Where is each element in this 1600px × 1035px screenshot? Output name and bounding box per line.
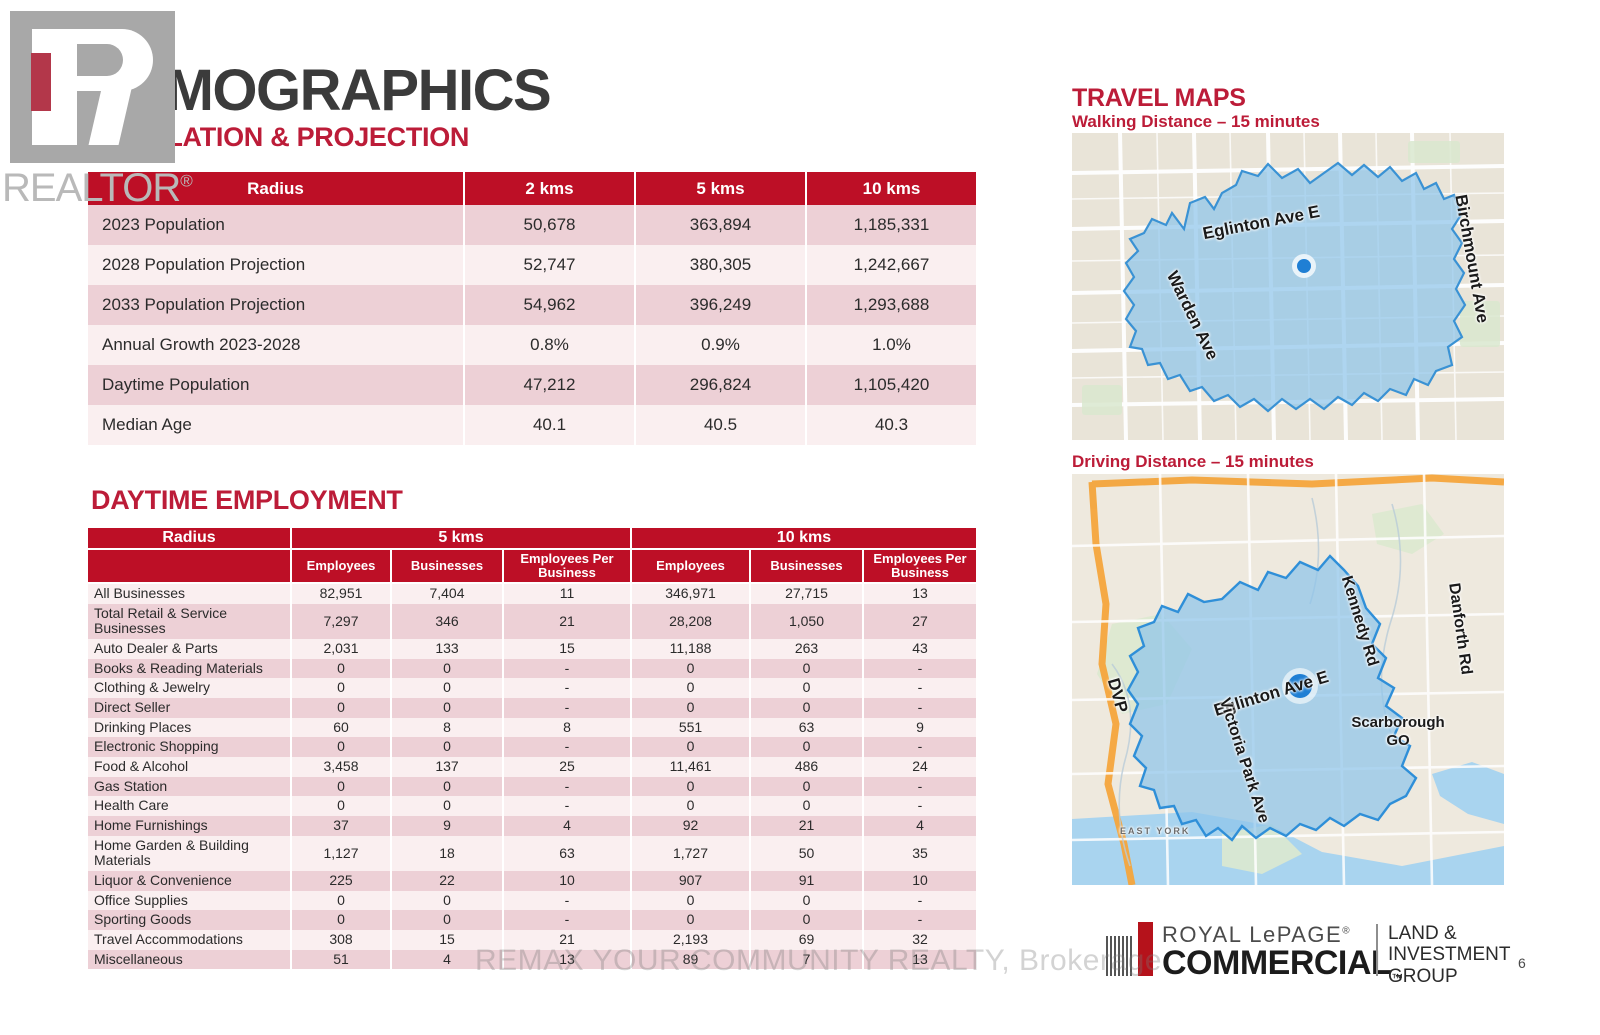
table-row: 2023 Population 50,678 363,894 1,185,331: [88, 205, 976, 245]
logo-divider: [1376, 924, 1378, 976]
logo-commercial-text: COMMERCIAL™: [1162, 944, 1403, 985]
cell-businesses-5: 9: [391, 816, 503, 836]
cell-10kms: 1,293,688: [806, 285, 976, 325]
cell-5kms: 296,824: [635, 365, 806, 405]
table-row: Gas Station00-00-: [88, 777, 976, 797]
col-subheader-employees-5: Employees: [291, 549, 391, 583]
row-label: Office Supplies: [88, 891, 291, 911]
row-label: Median Age: [88, 405, 464, 445]
slide-page: DEMOGRAPHICS POPULATION & PROJECTION Rad…: [0, 0, 1600, 1035]
logo-group-line-1: LAND &: [1388, 923, 1510, 944]
cell-per-business-10: 35: [863, 836, 976, 871]
table-row: Annual Growth 2023-2028 0.8% 0.9% 1.0%: [88, 325, 976, 365]
cell-10kms: 1.0%: [806, 325, 976, 365]
cell-businesses-5: 0: [391, 891, 503, 911]
cell-employees-5: 0: [291, 910, 391, 930]
cell-2kms: 54,962: [464, 285, 635, 325]
cell-2kms: 0.8%: [464, 325, 635, 365]
cell-employees-10: 11,461: [631, 757, 750, 777]
cell-10kms: 40.3: [806, 405, 976, 445]
cell-per-business-10: 24: [863, 757, 976, 777]
page-number: 6: [1518, 955, 1526, 971]
cell-businesses-5: 7,404: [391, 583, 503, 604]
table-row: Office Supplies00-00-: [88, 891, 976, 911]
cell-2kms: 40.1: [464, 405, 635, 445]
cell-employees-10: 0: [631, 910, 750, 930]
cell-2kms: 47,212: [464, 365, 635, 405]
col-header-radius: Radius: [88, 528, 291, 549]
cell-per-business-10: -: [863, 796, 976, 816]
cell-per-business-5: -: [503, 659, 631, 679]
label-walking-distance: Walking Distance – 15 minutes: [1072, 112, 1320, 132]
cell-per-business-5: -: [503, 777, 631, 797]
row-label: Miscellaneous: [88, 950, 291, 970]
row-label: Books & Reading Materials: [88, 659, 291, 679]
cell-businesses-10: 63: [750, 718, 863, 738]
row-label: Home Garden & Building Materials: [88, 836, 291, 871]
cell-per-business-10: 13: [863, 950, 976, 970]
row-label: Sporting Goods: [88, 910, 291, 930]
cell-per-business-10: 27: [863, 604, 976, 639]
cell-10kms: 1,242,667: [806, 245, 976, 285]
col-header-5kms: 5 kms: [635, 172, 806, 205]
cell-businesses-10: 69: [750, 930, 863, 950]
col-header-2kms: 2 kms: [464, 172, 635, 205]
cell-businesses-10: 91: [750, 871, 863, 891]
cell-businesses-5: 0: [391, 910, 503, 930]
royal-lepage-commercial-logo: ROYAL LePAGE® COMMERCIAL™ LAND & INVESTM…: [1106, 918, 1506, 980]
row-label: Home Furnishings: [88, 816, 291, 836]
cell-per-business-10: -: [863, 659, 976, 679]
registered-mark-icon: ®: [1342, 926, 1351, 937]
section-title-travel-maps: TRAVEL MAPS: [1072, 84, 1246, 113]
row-label: Clothing & Jewelry: [88, 678, 291, 698]
cell-businesses-5: 0: [391, 796, 503, 816]
cell-2kms: 50,678: [464, 205, 635, 245]
cell-employees-10: 89: [631, 950, 750, 970]
cell-per-business-10: -: [863, 737, 976, 757]
table-row: Liquor & Convenience22522109079110: [88, 871, 976, 891]
cell-businesses-5: 8: [391, 718, 503, 738]
table-row: Electronic Shopping00-00-: [88, 737, 976, 757]
row-label: 2033 Population Projection: [88, 285, 464, 325]
cell-5kms: 363,894: [635, 205, 806, 245]
col-subheader-businesses-10: Businesses: [750, 549, 863, 583]
cell-employees-5: 7,297: [291, 604, 391, 639]
cell-per-business-10: 13: [863, 583, 976, 604]
table-row: Health Care00-00-: [88, 796, 976, 816]
cell-per-business-5: 11: [503, 583, 631, 604]
cell-employees-5: 308: [291, 930, 391, 950]
cell-businesses-5: 346: [391, 604, 503, 639]
cell-employees-5: 2,031: [291, 639, 391, 659]
cell-per-business-5: -: [503, 796, 631, 816]
cell-per-business-5: 10: [503, 871, 631, 891]
cell-employees-10: 0: [631, 678, 750, 698]
cell-employees-10: 0: [631, 891, 750, 911]
driving-distance-map[interactable]: Kennedy Rd Danforth Rd Eglinton Ave E Vi…: [1072, 474, 1504, 885]
section-title-population: POPULATION & PROJECTION: [91, 122, 469, 153]
cell-10kms: 1,185,331: [806, 205, 976, 245]
cell-businesses-5: 15: [391, 930, 503, 950]
cell-per-business-10: 9: [863, 718, 976, 738]
cell-businesses-10: 0: [750, 678, 863, 698]
cell-employees-10: 1,727: [631, 836, 750, 871]
logo-red-bar-icon: [1138, 922, 1153, 976]
cell-per-business-5: 8: [503, 718, 631, 738]
cell-employees-5: 60: [291, 718, 391, 738]
cell-businesses-5: 18: [391, 836, 503, 871]
page-title: DEMOGRAPHICS: [88, 62, 550, 120]
cell-employees-5: 0: [291, 698, 391, 718]
row-label: Electronic Shopping: [88, 737, 291, 757]
col-header-radius: Radius: [88, 172, 464, 205]
cell-employees-10: 346,971: [631, 583, 750, 604]
cell-employees-5: 1,127: [291, 836, 391, 871]
cell-employees-10: 0: [631, 659, 750, 679]
table-row: Sporting Goods00-00-: [88, 910, 976, 930]
cell-per-business-5: -: [503, 891, 631, 911]
cell-per-business-5: 15: [503, 639, 631, 659]
cell-businesses-10: 7: [750, 950, 863, 970]
table-sub-header-row: Employees Businesses Employees Per Busin…: [88, 549, 976, 583]
row-label: Drinking Places: [88, 718, 291, 738]
table-row: Auto Dealer & Parts2,0311331511,18826343: [88, 639, 976, 659]
cell-per-business-5: 63: [503, 836, 631, 871]
cell-employees-10: 28,208: [631, 604, 750, 639]
table-row: Food & Alcohol3,4581372511,46148624: [88, 757, 976, 777]
cell-businesses-10: 0: [750, 777, 863, 797]
row-label: Gas Station: [88, 777, 291, 797]
table-row: 2028 Population Projection 52,747 380,30…: [88, 245, 976, 285]
cell-per-business-5: -: [503, 737, 631, 757]
cell-per-business-5: 4: [503, 816, 631, 836]
cell-per-business-5: 21: [503, 604, 631, 639]
cell-employees-5: 82,951: [291, 583, 391, 604]
cell-5kms: 40.5: [635, 405, 806, 445]
cell-employees-5: 0: [291, 891, 391, 911]
walking-map-graphic: [1072, 133, 1504, 440]
cell-businesses-5: 0: [391, 777, 503, 797]
cell-per-business-5: 25: [503, 757, 631, 777]
table-row: Direct Seller00-00-: [88, 698, 976, 718]
cell-businesses-5: 22: [391, 871, 503, 891]
cell-employees-10: 0: [631, 737, 750, 757]
cell-employees-10: 92: [631, 816, 750, 836]
col-subheader-employees-10: Employees: [631, 549, 750, 583]
cell-businesses-10: 263: [750, 639, 863, 659]
cell-employees-10: 2,193: [631, 930, 750, 950]
cell-businesses-10: 0: [750, 659, 863, 679]
cell-per-business-5: -: [503, 698, 631, 718]
cell-2kms: 52,747: [464, 245, 635, 285]
row-label: Travel Accommodations: [88, 930, 291, 950]
section-title-employment: DAYTIME EMPLOYMENT: [91, 485, 403, 516]
cell-employees-5: 0: [291, 796, 391, 816]
cell-per-business-10: 43: [863, 639, 976, 659]
cell-businesses-10: 0: [750, 796, 863, 816]
daytime-employment-table: Radius 5 kms 10 kms Employees Businesses…: [88, 528, 976, 969]
cell-businesses-5: 137: [391, 757, 503, 777]
table-row: Total Retail & Service Businesses7,29734…: [88, 604, 976, 639]
row-label: Direct Seller: [88, 698, 291, 718]
table-row: Drinking Places6088551639: [88, 718, 976, 738]
col-subheader-businesses-5: Businesses: [391, 549, 503, 583]
cell-per-business-5: -: [503, 910, 631, 930]
table-row: Daytime Population 47,212 296,824 1,105,…: [88, 365, 976, 405]
cell-businesses-10: 21: [750, 816, 863, 836]
col-header-10kms: 10 kms: [806, 172, 976, 205]
logo-group-line-3: GROUP: [1388, 966, 1510, 987]
row-label: 2023 Population: [88, 205, 464, 245]
cell-per-business-10: 10: [863, 871, 976, 891]
cell-5kms: 0.9%: [635, 325, 806, 365]
cell-per-business-5: 13: [503, 950, 631, 970]
driving-map-graphic: [1072, 474, 1504, 885]
row-label: Auto Dealer & Parts: [88, 639, 291, 659]
cell-per-business-5: 21: [503, 930, 631, 950]
cell-businesses-10: 0: [750, 891, 863, 911]
cell-employees-5: 51: [291, 950, 391, 970]
cell-employees-5: 0: [291, 737, 391, 757]
cell-per-business-10: -: [863, 910, 976, 930]
table-header-row: Radius 2 kms 5 kms 10 kms: [88, 172, 976, 205]
cell-5kms: 396,249: [635, 285, 806, 325]
table-row: All Businesses82,9517,40411346,97127,715…: [88, 583, 976, 604]
table-row: Median Age 40.1 40.5 40.3: [88, 405, 976, 445]
table-row: Home Garden & Building Materials1,127186…: [88, 836, 976, 871]
cell-businesses-10: 0: [750, 698, 863, 718]
table-row: Clothing & Jewelry00-00-: [88, 678, 976, 698]
row-label: Food & Alcohol: [88, 757, 291, 777]
row-label: Total Retail & Service Businesses: [88, 604, 291, 639]
cell-employees-10: 0: [631, 777, 750, 797]
cell-employees-5: 3,458: [291, 757, 391, 777]
row-label: Daytime Population: [88, 365, 464, 405]
row-label: Liquor & Convenience: [88, 871, 291, 891]
col-group-header-5kms: 5 kms: [291, 528, 631, 549]
cell-businesses-5: 0: [391, 659, 503, 679]
cell-per-business-10: -: [863, 698, 976, 718]
cell-10kms: 1,105,420: [806, 365, 976, 405]
table-group-header-row: Radius 5 kms 10 kms: [88, 528, 976, 549]
cell-employees-10: 11,188: [631, 639, 750, 659]
row-label: Health Care: [88, 796, 291, 816]
cell-5kms: 380,305: [635, 245, 806, 285]
logo-group-line-2: INVESTMENT: [1388, 944, 1510, 965]
cell-employees-5: 225: [291, 871, 391, 891]
walking-distance-map[interactable]: Eglinton Ave E Warden Ave Birchmount Ave: [1072, 133, 1504, 440]
table-row: 2033 Population Projection 54,962 396,24…: [88, 285, 976, 325]
cell-businesses-5: 0: [391, 698, 503, 718]
cell-businesses-10: 1,050: [750, 604, 863, 639]
col-subheader-blank: [88, 549, 291, 583]
cell-employees-10: 0: [631, 796, 750, 816]
table-row: Books & Reading Materials00-00-: [88, 659, 976, 679]
table-row: Miscellaneous5141389713: [88, 950, 976, 970]
cell-per-business-10: -: [863, 678, 976, 698]
cell-businesses-10: 0: [750, 910, 863, 930]
cell-employees-5: 0: [291, 659, 391, 679]
cell-employees-10: 907: [631, 871, 750, 891]
row-label: Annual Growth 2023-2028: [88, 325, 464, 365]
cell-employees-5: 37: [291, 816, 391, 836]
table-row: Travel Accommodations30815212,1936932: [88, 930, 976, 950]
cell-businesses-5: 0: [391, 737, 503, 757]
logo-land-investment-group-text: LAND & INVESTMENT GROUP: [1388, 923, 1510, 987]
cell-employees-5: 0: [291, 777, 391, 797]
logo-barcode-icon: [1106, 936, 1132, 976]
col-subheader-per-business-10: Employees Per Business: [863, 549, 976, 583]
cell-employees-10: 0: [631, 698, 750, 718]
cell-per-business-10: -: [863, 777, 976, 797]
cell-businesses-5: 133: [391, 639, 503, 659]
col-group-header-10kms: 10 kms: [631, 528, 976, 549]
table-row: Home Furnishings379492214: [88, 816, 976, 836]
cell-businesses-5: 0: [391, 678, 503, 698]
cell-employees-10: 551: [631, 718, 750, 738]
row-label: All Businesses: [88, 583, 291, 604]
cell-per-business-5: -: [503, 678, 631, 698]
population-projection-table: Radius 2 kms 5 kms 10 kms 2023 Populatio…: [88, 172, 976, 445]
col-subheader-per-business-5: Employees Per Business: [503, 549, 631, 583]
cell-per-business-10: 32: [863, 930, 976, 950]
cell-businesses-10: 486: [750, 757, 863, 777]
cell-businesses-10: 27,715: [750, 583, 863, 604]
cell-businesses-10: 0: [750, 737, 863, 757]
label-driving-distance: Driving Distance – 15 minutes: [1072, 452, 1314, 472]
cell-employees-5: 0: [291, 678, 391, 698]
cell-businesses-5: 4: [391, 950, 503, 970]
cell-per-business-10: -: [863, 891, 976, 911]
cell-per-business-10: 4: [863, 816, 976, 836]
row-label: 2028 Population Projection: [88, 245, 464, 285]
cell-businesses-10: 50: [750, 836, 863, 871]
